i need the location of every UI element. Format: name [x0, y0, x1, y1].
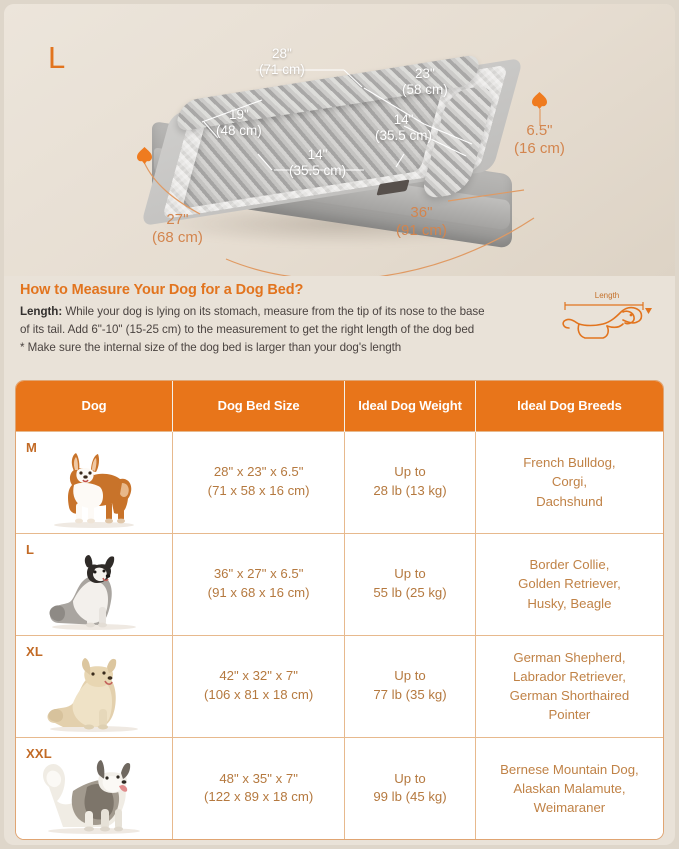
cell-bed-size-m: 28" x 23" x 6.5" (71 x 58 x 16 cm) [173, 431, 345, 533]
dimension-marker-depth-icon [137, 147, 152, 164]
weight-value: 99 lb (45 kg) [373, 789, 446, 804]
dimension-sleep-area-width: 19" (48 cm) [216, 107, 262, 139]
dog-photo-malamute [16, 747, 172, 835]
length-label: Length: [20, 305, 62, 318]
table-row: XXL [16, 737, 663, 839]
size-guide-table: Dog Dog Bed Size Ideal Dog Weight Ideal … [15, 380, 664, 840]
cell-weight-l: Up to 55 lb (25 kg) [345, 533, 476, 635]
cell-bed-size-xxl: 48" x 35" x 7" (122 x 89 x 18 cm) [173, 737, 345, 839]
table-row: XL [16, 635, 663, 737]
cell-dog-l: L [16, 533, 173, 635]
cell-breeds-l: Border Collie, Golden Retriever, Husky, … [475, 533, 663, 635]
measure-instructions-section: How to Measure Your Dog for a Dog Bed? L… [4, 276, 675, 372]
dimension-marker-height-icon [532, 92, 547, 109]
dimension-inner-depth: 23" (58 cm) [402, 66, 448, 98]
dimension-overall-depth: 27" (68 cm) [152, 211, 203, 247]
cell-breeds-xxl: Bernese Mountain Dog, Alaskan Malamute, … [475, 737, 663, 839]
weight-value: 55 lb (25 kg) [373, 585, 446, 600]
cell-dog-xl: XL [16, 635, 173, 737]
weight-prefix: Up to [394, 771, 426, 786]
bed-size-imperial: 48" x 35" x 7" [219, 771, 298, 786]
bed-size-metric: (71 x 58 x 16 cm) [208, 483, 310, 498]
instruction-line-2: of its tail. Add 6"-10" (15-25 cm) to th… [20, 323, 474, 336]
weight-value: 77 lb (35 kg) [373, 687, 446, 702]
diagram-length-label: Length [595, 291, 619, 300]
weight-value: 28 lb (13 kg) [373, 483, 446, 498]
instruction-paragraph: Length: While your dog is lying on its s… [20, 303, 565, 357]
cell-breeds-m: French Bulldog, Corgi, Dachshund [475, 431, 663, 533]
cell-bed-size-xl: 42" x 32" x 7" (106 x 81 x 18 cm) [173, 635, 345, 737]
cell-weight-m: Up to 28 lb (13 kg) [345, 431, 476, 533]
weight-prefix: Up to [394, 464, 426, 479]
bed-size-metric: (106 x 81 x 18 cm) [204, 687, 313, 702]
cell-bed-size-l: 36" x 27" x 6.5" (91 x 68 x 16 cm) [173, 533, 345, 635]
cell-weight-xxl: Up to 99 lb (45 kg) [345, 737, 476, 839]
infographic-page: L [4, 4, 675, 845]
table-row: L [16, 533, 663, 635]
cell-dog-m: M [16, 431, 173, 533]
table-row: M [16, 431, 663, 533]
dimension-overall-height: 6.5" (16 cm) [514, 122, 565, 158]
dimension-inner-width: 28" (71 cm) [259, 46, 305, 78]
dimension-sleep-area-depth: 14" (35.5 cm) [289, 147, 346, 179]
dog-photo-labrador [16, 645, 172, 733]
bed-size-imperial: 28" x 23" x 6.5" [214, 464, 304, 479]
table-body: M [16, 431, 663, 839]
weight-prefix: Up to [394, 668, 426, 683]
dog-photo-corgi [16, 441, 172, 529]
column-header-bed-size: Dog Bed Size [173, 381, 345, 431]
dimension-bolster-right: 14" (35.5 cm) [375, 112, 432, 144]
weight-prefix: Up to [394, 566, 426, 581]
bed-size-imperial: 36" x 27" x 6.5" [214, 566, 304, 581]
dog-length-diagram-icon: Length [557, 288, 657, 346]
cell-weight-xl: Up to 77 lb (35 kg) [345, 635, 476, 737]
column-header-dog-breeds: Ideal Dog Breeds [475, 381, 663, 431]
bed-size-metric: (91 x 68 x 16 cm) [208, 585, 310, 600]
bed-size-metric: (122 x 89 x 18 cm) [204, 789, 313, 804]
cell-breeds-xl: German Shepherd, Labrador Retriever, Ger… [475, 635, 663, 737]
column-header-dog-weight: Ideal Dog Weight [345, 381, 476, 431]
dimension-leader-lines [4, 4, 675, 276]
cell-dog-xxl: XXL [16, 737, 173, 839]
instruction-line-3: * Make sure the internal size of the dog… [20, 341, 401, 354]
column-header-dog: Dog [16, 381, 173, 431]
instruction-line-1: While your dog is lying on its stomach, … [62, 305, 484, 318]
bed-size-imperial: 42" x 32" x 7" [219, 668, 298, 683]
dimension-overall-width: 36" (91 cm) [396, 204, 447, 240]
table-header-row: Dog Dog Bed Size Ideal Dog Weight Ideal … [16, 381, 663, 431]
dog-photo-border-collie [16, 543, 172, 631]
hero-product-section: L [4, 4, 675, 276]
